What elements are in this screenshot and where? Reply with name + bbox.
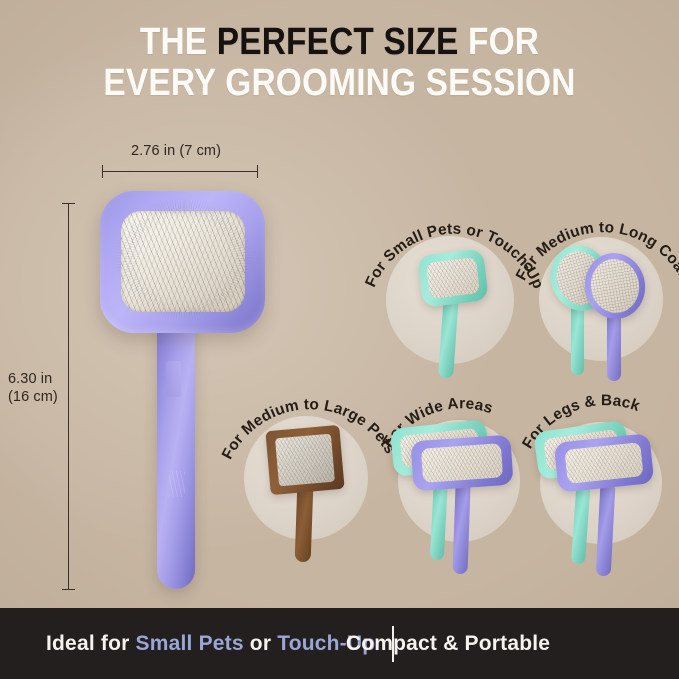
bottom-caption-bar: Ideal for Small Pets or Touch-Up Compact… <box>0 608 679 679</box>
headline-word-for: FOR <box>459 21 540 63</box>
inset-large-pets-brush-head <box>265 425 344 495</box>
headline: THE PERFECT SIZE FOR EVERY GROOMING SESS… <box>41 22 639 104</box>
inset-long-coats-purple-head <box>580 248 651 323</box>
height-dimension-label: 6.30 in (16 cm) <box>8 371 58 406</box>
inset-small-pets-brush-pad <box>426 257 480 299</box>
headline-word-perfect-size: PERFECT SIZE <box>217 21 459 63</box>
width-dimension-label: 2.76 in (7 cm) <box>131 143 221 159</box>
inset-legs-back-purple-pad <box>564 442 643 484</box>
inset-wide-areas-purple-head <box>410 435 513 492</box>
inset-small-pets-brush <box>412 250 502 378</box>
inset-small-pets: For Small Pets or Touch-Up <box>368 214 528 374</box>
inset-legs-back: For Legs & Back <box>522 386 679 561</box>
inset-large-pets-brush-handle <box>295 484 314 563</box>
bottom-bar-left-text: Ideal for Small Pets or Touch-Up <box>46 632 375 656</box>
hero-brush-pins <box>121 211 245 312</box>
inset-long-coats-brush-purple <box>579 253 679 383</box>
product-infographic: THE PERFECT SIZE FOR EVERY GROOMING SESS… <box>0 0 679 679</box>
hero-brush-pin-pad <box>121 211 245 312</box>
height-dimension-label-line2: (16 cm) <box>8 389 58 407</box>
bottom-bar-text-ideal-for: Ideal for <box>46 632 136 655</box>
headline-word-the: THE <box>140 21 217 63</box>
bottom-bar-highlight-small-pets: Small Pets <box>136 632 244 655</box>
inset-small-pets-brush-head <box>417 248 489 308</box>
inset-legs-back-purple-handle <box>596 486 616 577</box>
inset-legs-back-purple-head <box>554 433 655 493</box>
hero-brush-handle <box>157 301 195 589</box>
inset-long-coats-purple-pad <box>587 255 644 317</box>
height-dimension-line <box>68 203 69 590</box>
bottom-bar-right-text: Compact & Portable <box>346 632 550 656</box>
inset-large-pets: For Medium to Large Pets <box>228 382 388 552</box>
inset-large-pets-brush <box>264 426 374 556</box>
inset-wide-areas-purple-handle <box>452 486 470 574</box>
height-dimension-label-line1: 6.30 in <box>8 371 58 389</box>
width-dimension-line <box>102 171 258 172</box>
inset-long-coats: For Medium to Long Coats <box>517 205 679 375</box>
inset-small-pets-brush-handle <box>438 294 459 379</box>
bottom-bar-text-or: or <box>244 632 277 655</box>
inset-wide-areas-purple-pad <box>421 443 503 482</box>
hero-brush-head <box>100 191 265 333</box>
hero-brush-logo-emboss <box>169 471 185 497</box>
inset-legs-back-brush-purple <box>554 438 679 578</box>
inset-large-pets-brush-pad <box>275 434 335 487</box>
headline-line-2: EVERY GROOMING SESSION <box>41 63 639 104</box>
